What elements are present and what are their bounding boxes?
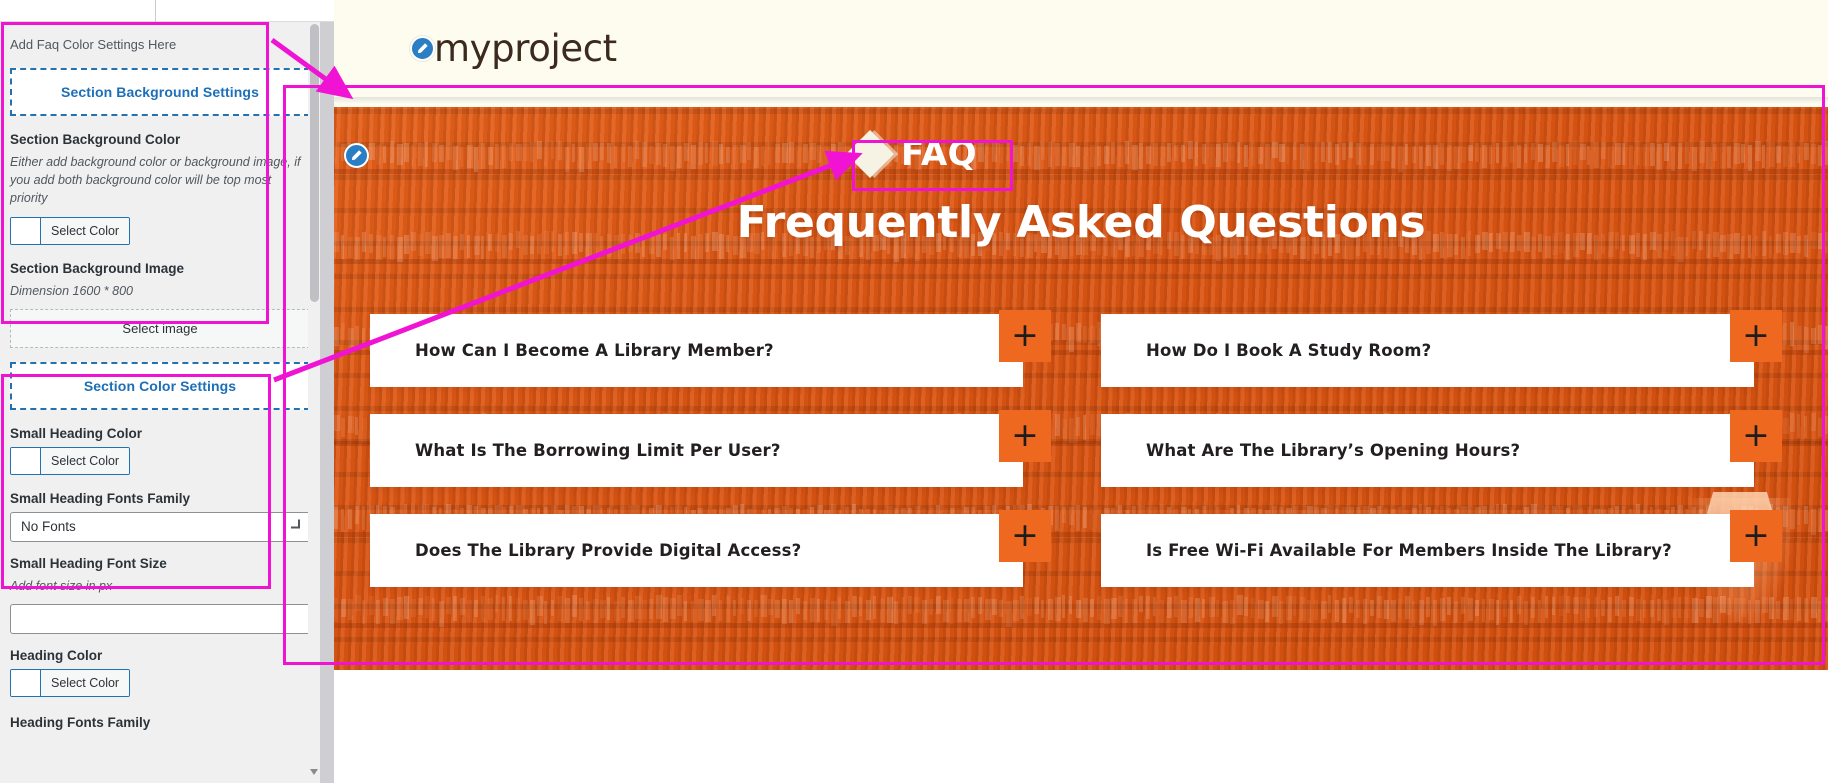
section-background-color-picker[interactable]: Select Color bbox=[10, 217, 130, 245]
heading-color-picker[interactable]: Select Color bbox=[10, 669, 130, 697]
select-image-button[interactable]: Select image bbox=[10, 309, 310, 348]
plus-glyph: + bbox=[1742, 318, 1770, 351]
plus-glyph: + bbox=[1011, 418, 1039, 451]
select-color-label: Select Color bbox=[41, 670, 129, 696]
faq-list: How Can I Become A Library Member? + How… bbox=[370, 314, 1792, 587]
section-background-settings-button[interactable]: Section Background Settings bbox=[10, 68, 310, 116]
select-color-label: Select Color bbox=[41, 448, 129, 474]
color-swatch[interactable] bbox=[11, 448, 41, 474]
site-header-inner: myproject bbox=[410, 27, 617, 70]
field-label-small-heading-font-size: Small Heading Font Size bbox=[10, 556, 310, 571]
faq-item[interactable]: Does The Library Provide Digital Access?… bbox=[370, 514, 1061, 587]
customizer-panel: Add Faq Color Settings Here Section Back… bbox=[0, 0, 320, 783]
faq-item[interactable]: What Is The Borrowing Limit Per User? + bbox=[370, 414, 1061, 487]
screenshot-root: Add Faq Color Settings Here Section Back… bbox=[0, 0, 1828, 783]
color-swatch[interactable] bbox=[11, 670, 41, 696]
plus-icon[interactable]: + bbox=[999, 410, 1051, 462]
panel-note: Add Faq Color Settings Here bbox=[10, 22, 310, 64]
faq-kicker: FAQ bbox=[853, 134, 977, 174]
faq-kicker-label: FAQ bbox=[901, 134, 977, 174]
field-label-section-background-image: Section Background Image bbox=[10, 261, 310, 276]
field-label-heading-color: Heading Color bbox=[10, 648, 310, 663]
scroll-down-arrow-icon[interactable] bbox=[310, 769, 318, 775]
color-swatch[interactable] bbox=[11, 218, 41, 244]
small-heading-color-picker[interactable]: Select Color bbox=[10, 447, 130, 475]
panel-scrollbar[interactable] bbox=[308, 22, 320, 783]
faq-card[interactable]: Does The Library Provide Digital Access? bbox=[370, 514, 1023, 587]
select-color-label: Select Color bbox=[41, 218, 129, 244]
plus-icon[interactable]: + bbox=[999, 310, 1051, 362]
field-help-section-background-color: Either add background color or backgroun… bbox=[10, 153, 310, 207]
header-shadow bbox=[334, 97, 1828, 104]
plus-icon[interactable]: + bbox=[1730, 510, 1782, 562]
faq-question: What Are The Library’s Opening Hours? bbox=[1146, 441, 1520, 460]
panel-scroll-thumb[interactable] bbox=[310, 24, 319, 302]
field-help-small-heading-font-size: Add font size in px bbox=[10, 577, 310, 595]
small-heading-font-size-input[interactable] bbox=[10, 604, 310, 634]
panel-divider bbox=[155, 0, 156, 22]
faq-item[interactable]: How Do I Book A Study Room? + bbox=[1101, 314, 1792, 387]
preview-below-section bbox=[334, 670, 1828, 783]
faq-card[interactable]: How Do I Book A Study Room? bbox=[1101, 314, 1754, 387]
faq-question: How Can I Become A Library Member? bbox=[415, 341, 774, 360]
customizer-fields: Add Faq Color Settings Here Section Back… bbox=[0, 22, 320, 783]
site-title: myproject bbox=[434, 27, 617, 70]
faq-card[interactable]: What Are The Library’s Opening Hours? bbox=[1101, 414, 1754, 487]
faq-section-pencil-edit-icon[interactable] bbox=[344, 143, 369, 168]
faq-section: FAQ Frequently Asked Questions How Can I… bbox=[334, 107, 1828, 670]
window-gutter-top bbox=[320, 0, 334, 22]
faq-item[interactable]: How Can I Become A Library Member? + bbox=[370, 314, 1061, 387]
small-heading-fonts-family-value: No Fonts bbox=[21, 519, 76, 534]
plus-icon[interactable]: + bbox=[999, 510, 1051, 562]
plus-glyph: + bbox=[1742, 518, 1770, 551]
field-label-small-heading-fonts-family: Small Heading Fonts Family bbox=[10, 491, 310, 506]
small-heading-fonts-family-select[interactable]: No Fonts bbox=[10, 512, 310, 542]
faq-question: Is Free Wi-Fi Available For Members Insi… bbox=[1146, 541, 1672, 560]
plus-glyph: + bbox=[1742, 418, 1770, 451]
faq-question: How Do I Book A Study Room? bbox=[1146, 341, 1431, 360]
faq-item[interactable]: What Are The Library’s Opening Hours? + bbox=[1101, 414, 1792, 487]
plus-icon[interactable]: + bbox=[1730, 310, 1782, 362]
field-help-section-background-image: Dimension 1600 * 800 bbox=[10, 282, 310, 300]
section-color-settings-button[interactable]: Section Color Settings bbox=[10, 362, 310, 410]
field-label-small-heading-color: Small Heading Color bbox=[10, 426, 310, 441]
faq-question: What Is The Borrowing Limit Per User? bbox=[415, 441, 781, 460]
faq-question: Does The Library Provide Digital Access? bbox=[415, 541, 801, 560]
faq-card[interactable]: Is Free Wi-Fi Available For Members Insi… bbox=[1101, 514, 1754, 587]
faq-section-title: Frequently Asked Questions bbox=[334, 197, 1828, 248]
window-gutter bbox=[320, 0, 334, 783]
faq-card[interactable]: What Is The Borrowing Limit Per User? bbox=[370, 414, 1023, 487]
plus-glyph: + bbox=[1011, 318, 1039, 351]
panel-top-strip bbox=[0, 0, 320, 22]
plus-icon[interactable]: + bbox=[1730, 410, 1782, 462]
diamond-icon bbox=[846, 130, 894, 178]
site-preview: myproject FAQ bbox=[334, 0, 1828, 783]
site-header: myproject bbox=[334, 0, 1828, 97]
field-label-section-background-color: Section Background Color bbox=[10, 132, 310, 147]
faq-item[interactable]: Is Free Wi-Fi Available For Members Insi… bbox=[1101, 514, 1792, 587]
field-label-heading-fonts-family: Heading Fonts Family bbox=[10, 715, 310, 730]
plus-glyph: + bbox=[1011, 518, 1039, 551]
chevron-down-icon bbox=[291, 519, 300, 528]
faq-card[interactable]: How Can I Become A Library Member? bbox=[370, 314, 1023, 387]
pencil-edit-icon[interactable] bbox=[410, 36, 435, 61]
